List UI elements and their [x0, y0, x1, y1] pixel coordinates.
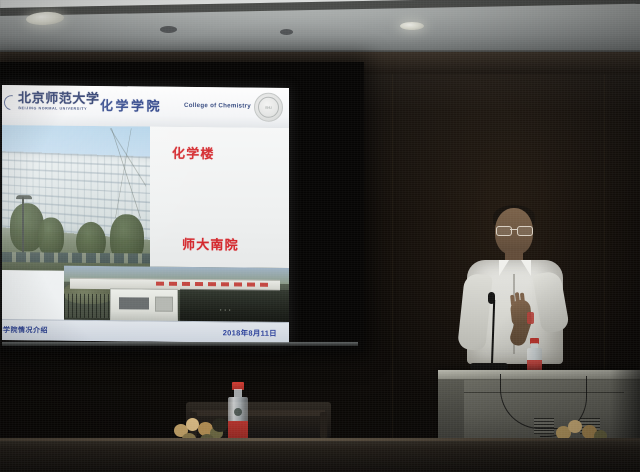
projection-screen: 北京师范大学 BEIJING NORMAL UNIVERSITY 化学学院 Co… — [0, 62, 364, 352]
university-name-cn: 北京师范大学 — [18, 91, 100, 106]
foreground-water-bottle — [228, 382, 248, 444]
slide-footer: 化学学院情况介绍 2018年8月11日 — [2, 319, 289, 343]
college-name-cn: 化学学院 — [100, 95, 162, 115]
speaker — [455, 208, 580, 388]
ceiling — [0, 0, 640, 56]
tree-icon — [38, 217, 64, 255]
kiosk-sign — [155, 297, 173, 312]
photo-campus-gate: • • • — [64, 266, 289, 323]
kiosk-window — [119, 297, 149, 309]
ceiling-light-icon — [26, 11, 65, 26]
microphone-base — [470, 363, 508, 370]
bench-leg — [320, 412, 327, 438]
gate-dots-text: • • • — [220, 307, 231, 312]
screen-bottom-edge — [2, 342, 358, 346]
college-name-en: College of Chemistry — [184, 102, 251, 110]
caption-chemistry-building: 化学楼 — [172, 143, 215, 162]
slide-caption-panel: 化学楼 师大南院 — [150, 127, 289, 273]
gate-fence — [64, 294, 110, 318]
parked-cars — [2, 252, 150, 264]
tree-branches — [110, 128, 146, 218]
wall-seam — [392, 52, 393, 472]
university-name-en: BEIJING NORMAL UNIVERSITY — [18, 106, 87, 111]
university-logo: 北京师范大学 BEIJING NORMAL UNIVERSITY — [6, 91, 100, 111]
ceiling-light-icon — [400, 22, 424, 30]
glasses-bridge — [510, 229, 517, 230]
collar-left — [499, 260, 509, 276]
lens-left — [496, 226, 512, 236]
university-seal-text: BNU — [258, 97, 279, 118]
screenshot-stage: 北京师范大学 BEIJING NORMAL UNIVERSITY 化学学院 Co… — [0, 0, 640, 472]
leaf — [212, 418, 228, 432]
eyeglasses-icon — [496, 226, 532, 234]
presentation-slide: 北京师范大学 BEIJING NORMAL UNIVERSITY 化学学院 Co… — [2, 85, 289, 343]
gate-shadow-area — [180, 289, 289, 323]
flower — [568, 420, 582, 433]
badge-lanyard — [527, 312, 534, 324]
slide-footer-title: 化学学院情况介绍 — [2, 325, 48, 336]
bottle-label — [228, 421, 248, 438]
lamp-post — [22, 197, 24, 259]
gate-guard-kiosk — [110, 288, 178, 323]
ceiling-vent-icon — [160, 26, 177, 33]
university-seal-icon: BNU — [254, 93, 283, 122]
foreground-table — [0, 438, 640, 472]
photo-chemistry-building — [2, 125, 150, 272]
slide-header: 北京师范大学 BEIJING NORMAL UNIVERSITY 化学学院 Co… — [2, 85, 289, 129]
gate-banner-characters — [156, 282, 272, 287]
ceiling-vent-icon — [280, 29, 293, 35]
table-edge — [0, 438, 640, 441]
slide-body: 化学楼 师大南院 • • • — [2, 125, 289, 323]
lens-right — [517, 226, 533, 236]
lamp-head — [16, 195, 32, 199]
podium-shadow — [610, 370, 640, 448]
caption-south-campus: 师大南院 — [182, 234, 239, 254]
collar-right — [521, 260, 531, 276]
bottle-logo-icon — [234, 408, 242, 416]
bottle-body — [228, 397, 248, 444]
bottle-neck — [234, 389, 242, 397]
slide-footer-date: 2018年8月11日 — [223, 327, 277, 339]
